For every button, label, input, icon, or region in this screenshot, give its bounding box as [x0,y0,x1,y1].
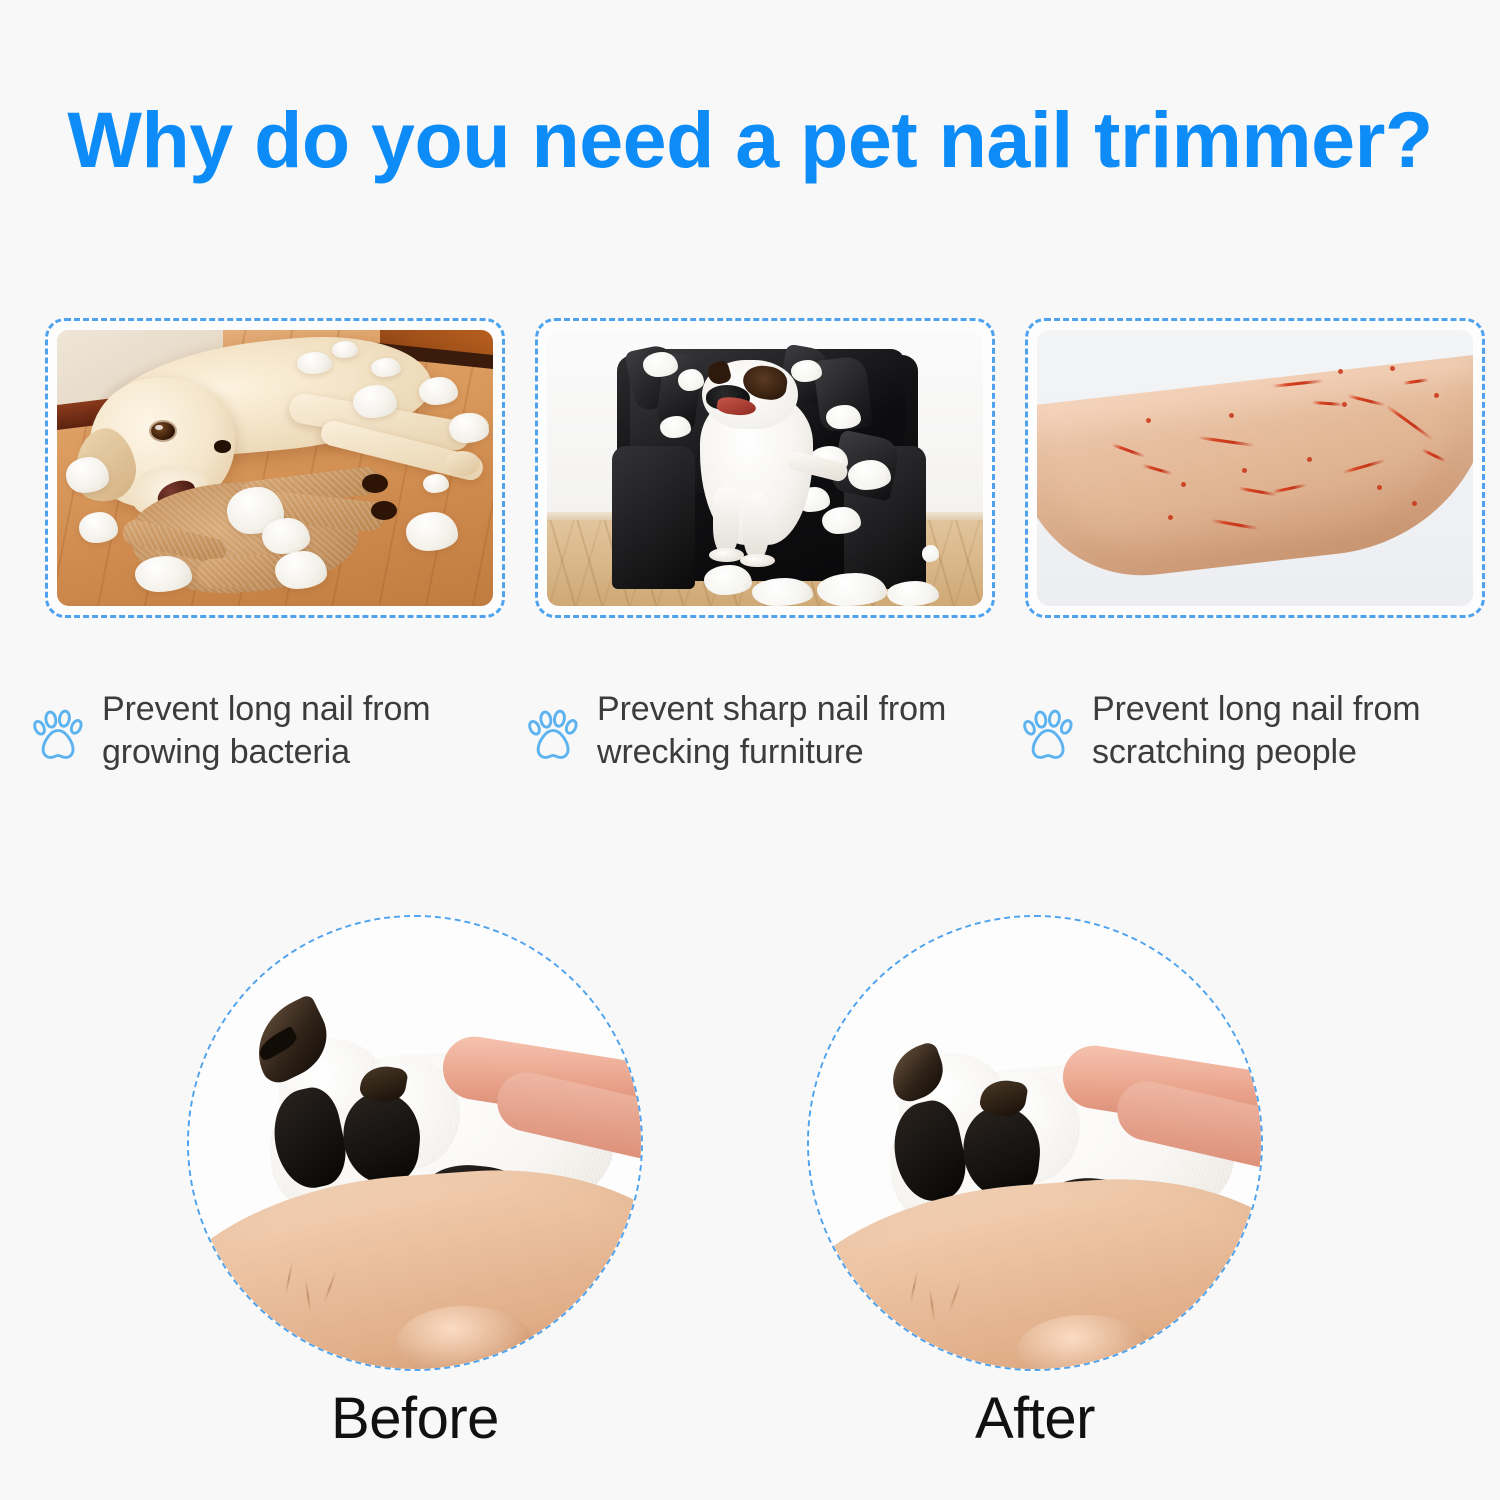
benefit-caption-text: Prevent long nail from growing bacteria [102,688,431,774]
benefit-photo-row [45,318,1485,618]
benefit-caption-2: Prevent sharp nail from wrecking furnitu… [525,688,1005,788]
benefit-caption-1: Prevent long nail from growing bacteria [30,688,510,788]
before-label: Before [187,1385,643,1452]
paw-trimmed-nail-photo [807,915,1263,1371]
page-title: Why do you need a pet nail trimmer? [0,100,1500,179]
benefit-caption-row: Prevent long nail from growing bacteria … [30,688,1500,788]
before-after-row: Before After [0,915,1500,1385]
dog-wrecked-armchair-photo [547,330,983,606]
after-comparison: After [807,915,1263,1371]
paw-print-icon [30,706,88,764]
before-comparison: Before [187,915,643,1371]
benefit-photo-panel-1 [45,318,505,618]
benefit-caption-text: Prevent long nail from scratching people [1092,688,1421,774]
benefit-caption-3: Prevent long nail from scratching people [1020,688,1500,788]
caption-line-1: Prevent long nail from [102,690,431,728]
benefit-photo-panel-3 [1025,318,1485,618]
after-label: After [807,1385,1263,1452]
benefit-photo-panel-2 [535,318,995,618]
caption-line-2: wrecking furniture [597,733,864,771]
caption-line-2: growing bacteria [102,733,350,771]
benefit-caption-text: Prevent sharp nail from wrecking furnitu… [597,688,946,774]
scratched-arm-photo [1037,330,1473,606]
caption-line-1: Prevent sharp nail from [597,690,946,728]
paw-long-nail-photo [187,915,643,1371]
paw-print-icon [525,706,583,764]
dog-shredded-toy-photo [57,330,493,606]
caption-line-1: Prevent long nail from [1092,690,1421,728]
caption-line-2: scratching people [1092,733,1357,771]
paw-print-icon [1020,706,1078,764]
